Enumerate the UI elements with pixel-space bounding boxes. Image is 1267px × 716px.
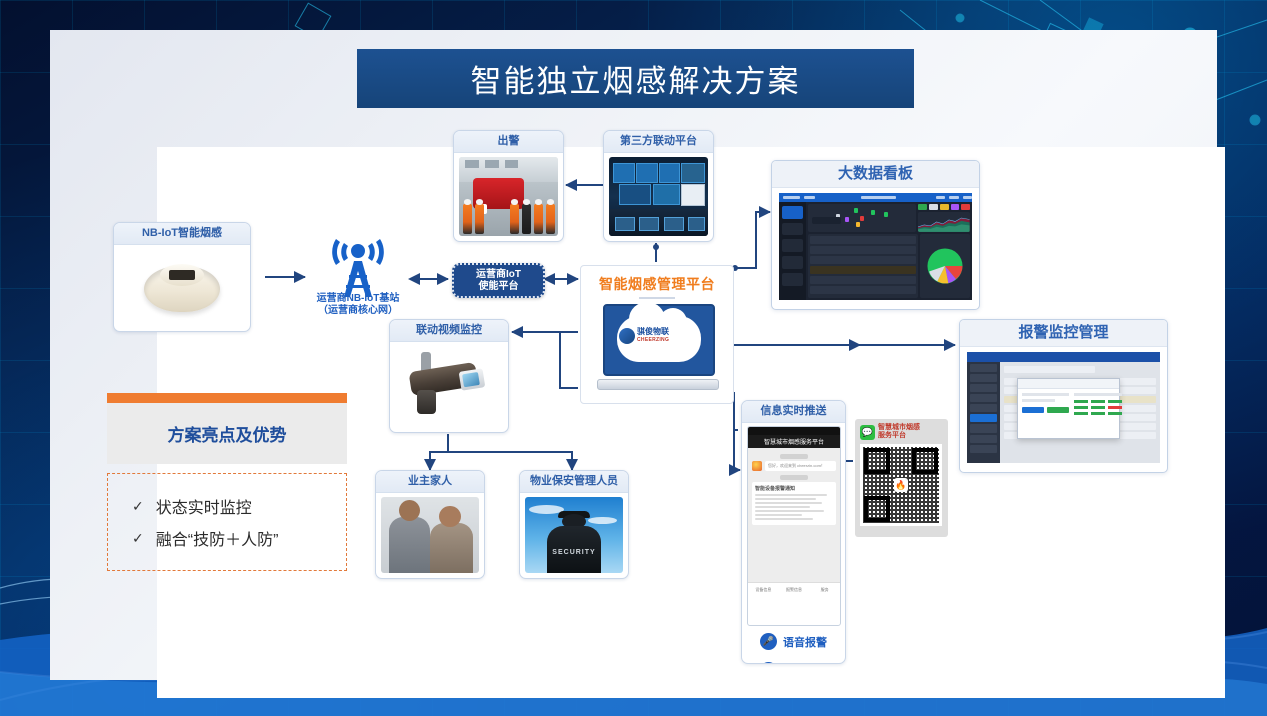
cheerzing-logo: 骐俊物联 CHEERZING (619, 328, 699, 344)
check-icon: ✓ (132, 498, 144, 515)
card-home-owner[interactable]: 业主家人 (375, 470, 485, 579)
base-station-caption: 运营商NB-IoT基站 （运营商核心网） (294, 293, 422, 317)
card-title-push: 信息实时推送 (742, 401, 845, 423)
tab-device-info[interactable]: 设备信息 (748, 587, 779, 593)
list-item: ✓ 状态实时监控 (132, 494, 346, 518)
logo-mark-icon (619, 328, 635, 344)
card-title-security: 物业保安管理人员 (520, 471, 628, 493)
qr-brand-row: 💬 智慧城市烟感 服务平台 (860, 424, 943, 440)
card-title-bigdata: 大数据看板 (772, 161, 979, 188)
card-title-video: 联动视频监控 (390, 320, 508, 342)
card-alarm-monitoring[interactable]: 报警监控管理 (959, 319, 1168, 473)
card-linked-video-monitoring[interactable]: 联动视频监控 (389, 319, 509, 433)
alarm-notice-card[interactable]: 智能设备报警通知 (752, 482, 836, 525)
smart-smoke-management-platform[interactable]: 智能烟感管理平台 骐俊物联 CHEERZING (580, 265, 734, 404)
iot-line2: 使能平台 (476, 281, 521, 293)
sms-alert-row[interactable]: ●● 短信提醒 (747, 662, 840, 664)
welcome-message: 您好，欢迎来到 cheerzin.com！ (765, 461, 836, 471)
page-title: 智能独立烟感解决方案 (357, 49, 914, 108)
alarm-notice-title: 智能设备报警通知 (755, 485, 833, 492)
page-title-text: 智能独立烟感解决方案 (471, 56, 801, 101)
highlight-item-1: 融合“技防＋人防” (156, 526, 279, 550)
security-camera-photo (395, 346, 503, 427)
qr-brand-text: 智慧城市烟感 服务平台 (878, 424, 920, 440)
card-nbiot-smoke-detector[interactable]: NB-IoT智能烟感 (113, 222, 251, 332)
qr-brand-line1: 智慧城市烟感 (878, 424, 920, 432)
wechat-icon: 💬 (860, 425, 875, 440)
pie-chart-icon (922, 243, 968, 289)
sms-icon: ●● (760, 662, 777, 664)
highlight-item-0: 状态实时监控 (156, 494, 252, 518)
detector-photo (119, 249, 245, 326)
microphone-icon: 🎤 (760, 633, 777, 650)
card-third-party-platform[interactable]: 第三方联动平台 (603, 130, 714, 242)
alarm-screenshot (967, 352, 1160, 463)
laptop-screen: 骐俊物联 CHEERZING (603, 304, 715, 376)
highlights-heading: 方案亮点及优势 (168, 421, 287, 446)
card-property-security-staff[interactable]: 物业保安管理人员 SECURITY (519, 470, 629, 579)
app-avatar-icon (752, 461, 762, 471)
laptop-cloud-icon: 骐俊物联 CHEERZING (597, 304, 717, 390)
laptop-base (597, 379, 719, 390)
highlights-header: 方案亮点及优势 (107, 403, 347, 464)
security-guard-photo: SECURITY (525, 497, 623, 573)
base-station-line1: 运营商NB-IoT基站 (294, 293, 422, 305)
operator-iot-platform-box[interactable]: 运营商IoT 使能平台 (452, 263, 545, 298)
card-bigdata-dashboard[interactable]: 大数据看板 (771, 160, 980, 310)
tab-alarm-info[interactable]: 报警信息 (779, 587, 810, 593)
voice-alarm-row[interactable]: 🎤 语音报警 (747, 633, 840, 650)
highlights-accent-bar (107, 393, 347, 403)
security-uniform-text: SECURITY (525, 549, 623, 556)
logo-text-en: CHEERZING (637, 336, 669, 344)
control-room-photo (609, 157, 708, 236)
card-title-detector: NB-IoT智能烟感 (114, 223, 250, 245)
iot-platform-label: 运营商IoT 使能平台 (476, 269, 521, 293)
highlights-list: ✓ 状态实时监控 ✓ 融合“技防＋人防” (107, 473, 347, 571)
platform-divider (639, 297, 675, 299)
card-title-dispatch: 出警 (454, 131, 563, 153)
iot-line1: 运营商IoT (476, 269, 521, 281)
phone-tab-bar[interactable]: 设备信息 报警信息 服务 (748, 582, 840, 596)
wechat-qr-card[interactable]: 💬 智慧城市烟感 服务平台 🔥 (855, 419, 948, 537)
qr-center-logo-icon: 🔥 (894, 478, 908, 492)
platform-title: 智能烟感管理平台 (581, 274, 733, 294)
sms-alert-label: 短信提醒 (783, 663, 827, 665)
card-title-third-party: 第三方联动平台 (604, 131, 713, 153)
phone-chat-area: 您好，欢迎来到 cheerzin.com！ 智能设备报警通知 (748, 448, 840, 582)
phone-app-header: 智慧城市烟感服务平台 (748, 435, 840, 448)
phone-app-title: 智慧城市烟感服务平台 (764, 437, 824, 446)
detector-vent-icon (169, 270, 195, 280)
qr-code-image[interactable]: 🔥 (860, 444, 942, 526)
card-title-owner: 业主家人 (376, 471, 484, 493)
qr-brand-line2: 服务平台 (878, 432, 920, 440)
cell-tower-icon (318, 237, 398, 299)
firefighters-photo (459, 157, 558, 236)
voice-alarm-label: 语音报警 (783, 634, 827, 650)
logo-text-cn: 骐俊物联 (637, 327, 669, 336)
logo-text: 骐俊物联 CHEERZING (637, 328, 669, 344)
card-title-alarm: 报警监控管理 (960, 320, 1167, 347)
bigdata-screenshot (779, 193, 972, 300)
base-station-line2: （运营商核心网） (294, 305, 422, 317)
card-realtime-push[interactable]: 信息实时推送 智慧城市烟感服务平台 您好，欢迎来到 cheerzin.com！ … (741, 400, 846, 664)
base-station-group: 运营商NB-IoT基站 （运营商核心网） (318, 237, 398, 299)
check-icon: ✓ (132, 530, 144, 547)
card-dispatch[interactable]: 出警 (453, 130, 564, 242)
list-item: ✓ 融合“技防＋人防” (132, 526, 346, 550)
couple-photo (381, 497, 479, 573)
phone-mockup[interactable]: 智慧城市烟感服务平台 您好，欢迎来到 cheerzin.com！ 智能设备报警通… (747, 426, 841, 626)
tab-service[interactable]: 服务 (809, 587, 840, 593)
phone-status-bar (748, 427, 840, 435)
